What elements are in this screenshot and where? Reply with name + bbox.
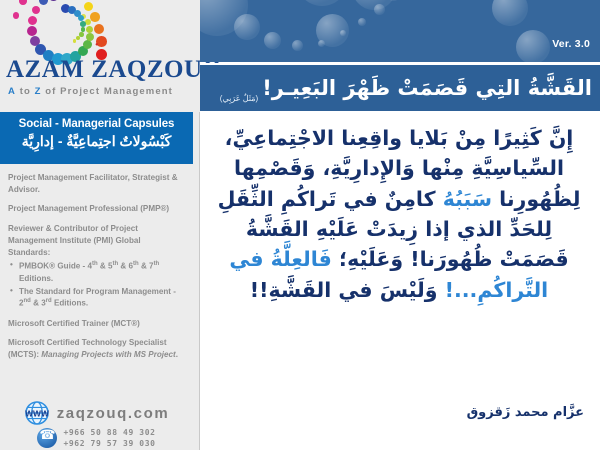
logo-dot [79,32,83,36]
logo-dot [13,12,19,18]
logo-dot [84,2,93,11]
brand-block: AZAM Z˙AQZOUQ A to Z of Project Manageme… [0,0,200,112]
body-paragraph: إِنَّ كَثِيرًا مِنْ بَلايا واقِعِنا الاج… [214,123,584,305]
sidebar: AZAM Z˙AQZOUQ A to Z of Project Manageme… [0,0,200,450]
logo-dot [27,26,37,36]
logo-dot [94,24,104,34]
line6-highlight: التَّراكُمِ...! [445,278,549,302]
brand-tagline: A to Z of Project Management [8,86,198,97]
logo-dot [39,0,48,5]
phone-row: +966 50 88 49 302 +962 79 57 39 030 [0,428,193,450]
main-content: إِنَّ كَثِيرًا مِنْ بَلايا واقِعِنا الاج… [200,111,600,450]
version-label: Ver. 3.0 [552,38,590,50]
bubble-decoration [352,0,396,10]
logo-dot [86,33,94,41]
tagline-a: A [8,86,16,97]
logo-dot [48,0,59,1]
logo-dot [83,40,92,49]
website-row[interactable]: WWW zaqzouq.com [0,400,193,426]
body-line-2: السِّياسِيَّةِ مِنْها وَالإِدارِيَّةِ، و… [214,153,584,183]
standards-list: PMBOK® Guide - 4th & 5th & 6th & 7th Edi… [10,260,185,309]
tagline-mid: to [16,86,35,97]
bubble-decoration [234,14,260,40]
body-line-4: لِلحَدِّ الذي إذا زِيدَتْ عَلَيْهِ القَش… [214,214,584,244]
logo-dot [73,39,77,43]
credential-item: Reviewer & Contributor of Project Manage… [8,223,185,258]
body-line-6: التَّراكُمِ...! وَلَيْسَ في القَشَّةِ!! [214,275,584,305]
title-source-note: (مَثَلٌ عَرَبِي) [220,94,258,111]
slide-title-bar: القَشَّةُ التِي قَصَمَتْ ظَهْرَ البَعِيـ… [200,63,600,111]
bubble-decoration [296,0,348,6]
svg-text:WWW: WWW [25,408,49,418]
logo-dot [81,27,86,32]
capsules-title-arabic: كَبْسُولاتٌ اجتِماعِيَّةٌ - إدارِيَّة [0,130,193,150]
mcts-italic: Managing Projects with MS Project [41,350,175,359]
bubble-decoration [492,0,528,26]
credential-mct: Microsoft Certified Trainer (MCT®) [8,318,185,330]
author-signature: عزَّام محمد زَقزوق [467,405,584,420]
bubble-decoration [358,18,366,26]
page-title: القَشَّةُ التِي قَصَمَتْ ظَهْرَ البَعِيـ… [262,78,592,99]
header-banner: Ver. 3.0 [200,0,600,62]
phone-number-1: +966 50 88 49 302 [63,428,155,437]
capsules-section-header: Social - Managerial Capsules كَبْسُولاتٌ… [0,112,193,164]
bubble-decoration [516,30,550,62]
mcts-end: . [176,350,178,359]
globe-www-icon: WWW [24,400,50,426]
bubble-decoration [264,32,281,49]
line3-highlight: سَبَبُهُ [443,187,492,211]
line5-highlight: فَالعِلَّةُ في [229,247,332,271]
phone-icon [37,428,57,448]
brand-name: AZAM Z˙AQZOUQ [6,57,196,82]
list-item: The Standard for Program Management - 2n… [10,286,185,310]
line3-part-a: لِظُهُورِنا [492,187,580,211]
tagline-z: Z [35,86,42,97]
logo-dot [86,26,93,33]
phone-numbers: +966 50 88 49 302 +962 79 57 39 030 [63,428,155,450]
bubble-decoration [292,40,303,51]
logo-dot [90,12,100,22]
logo-dot [32,6,40,14]
logo-dot [19,0,27,5]
phone-number-2: +962 79 57 39 030 [63,439,155,448]
dot-spiral-logo-icon [14,0,124,58]
line3-part-b: كامِنٌ في تَراكُمِ الثِّقَلِ [218,187,443,211]
credentials-list: Project Management Facilitator, Strategi… [0,168,193,369]
website-url[interactable]: zaqzouq.com [57,405,170,422]
logo-dot [80,21,86,27]
line6-part-b: وَلَيْسَ في القَشَّةِ!! [250,278,445,302]
credential-item: Project Management Professional (PMP®) [8,203,185,215]
line5-part-a: قَصَمَتْ ظُهُورَنا! وَعَلَيْهِ؛ [332,247,569,271]
body-line-1: إِنَّ كَثِيرًا مِنْ بَلايا واقِعِنا الاج… [214,123,584,153]
credential-mcts: Microsoft Certified Technology Specialis… [8,337,185,360]
logo-dot [28,16,37,25]
logo-dot [76,36,80,40]
credential-item: Project Management Facilitator, Strategi… [8,172,185,195]
capsules-title-english: Social - Managerial Capsules [0,112,193,130]
body-line-3: لِظُهُورِنا سَبَبُهُ كامِنٌ في تَراكُمِ … [214,184,584,214]
list-item: PMBOK® Guide - 4th & 5th & 6th & 7th Edi… [10,260,185,284]
tagline-suffix: of Project Management [42,86,173,97]
body-line-5: قَصَمَتْ ظُهُورَنا! وَعَلَيْهِ؛ فَالعِلَ… [214,244,584,274]
bubble-decoration [316,14,349,47]
